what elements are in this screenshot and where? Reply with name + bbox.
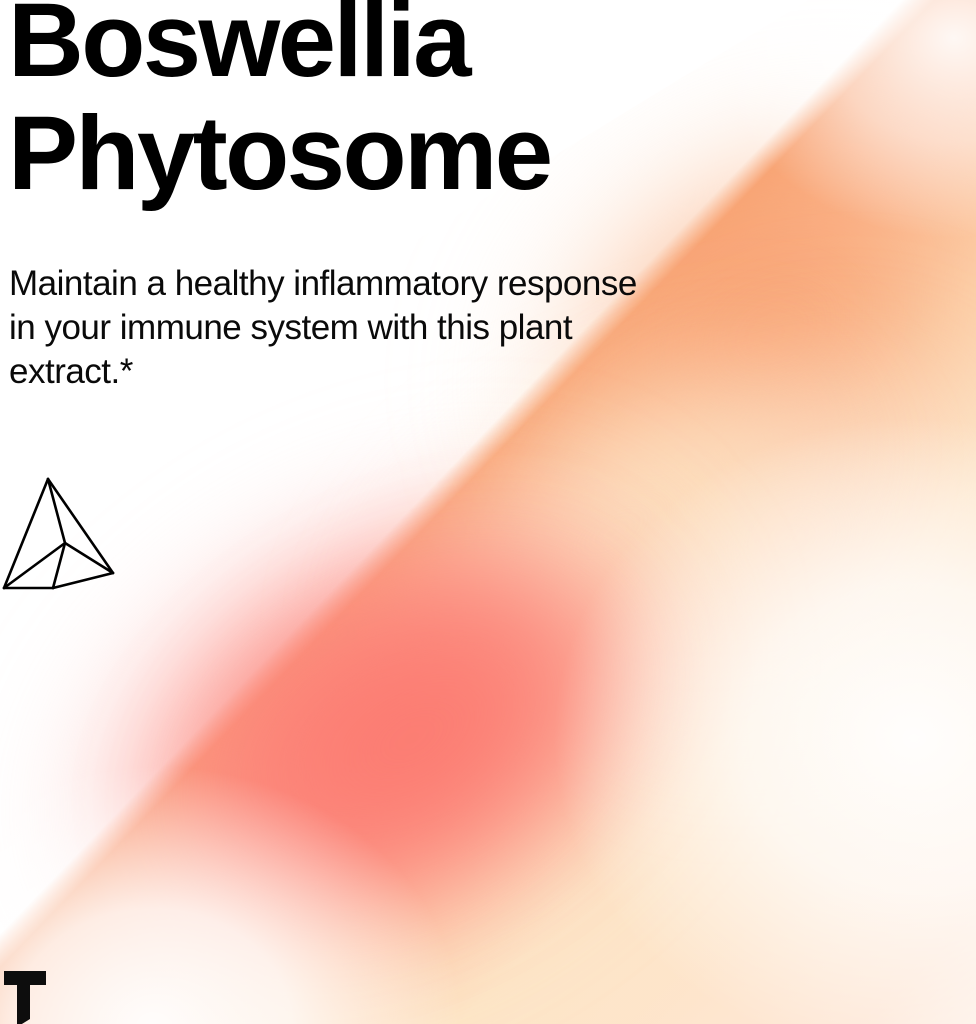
gradient-blob-coral-core bbox=[112, 478, 712, 998]
gradient-blob-coral bbox=[0, 356, 811, 1024]
gradient-fade-bottom-left bbox=[0, 766, 462, 1024]
tetrahedron-icon bbox=[0, 470, 124, 596]
thorne-t-logo bbox=[4, 971, 52, 1024]
gradient-fade-top-right bbox=[714, 0, 976, 238]
product-title: Boswellia Phytosome bbox=[8, 0, 728, 210]
product-subtitle: Maintain a healthy inflammatory response… bbox=[9, 262, 649, 394]
thorne-t-logo-svg bbox=[4, 971, 52, 1024]
tetrahedron-wireframe-svg bbox=[0, 470, 124, 596]
product-card: Boswellia Phytosome Maintain a healthy i… bbox=[0, 0, 976, 1024]
gradient-fade-right bbox=[554, 418, 976, 1024]
